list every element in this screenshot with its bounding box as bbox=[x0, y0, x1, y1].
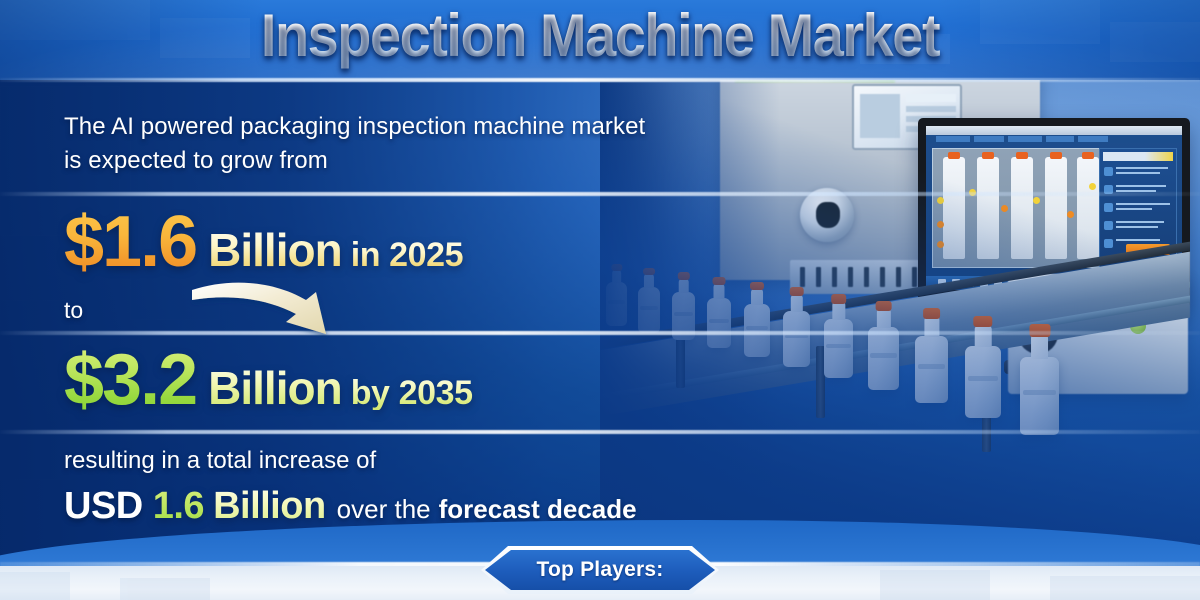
machine-rotary-dial bbox=[800, 188, 854, 242]
stat-to-amount: $3.2 bbox=[64, 344, 196, 416]
bottle bbox=[965, 346, 1001, 418]
monitor-app-titlebar bbox=[926, 126, 1182, 135]
stat-from-year: in 2025 bbox=[351, 238, 464, 272]
top-players-label: Top Players: bbox=[537, 558, 664, 582]
to-label: to bbox=[64, 296, 83, 324]
content-column: The AI powered packaging inspection mach… bbox=[0, 0, 760, 600]
top-players-banner[interactable]: Top Players: bbox=[485, 550, 715, 590]
bottle bbox=[1020, 357, 1059, 435]
stat-from-amount: $1.6 bbox=[64, 206, 196, 278]
intro-paragraph: The AI powered packaging inspection mach… bbox=[64, 110, 724, 178]
curved-arrow-icon bbox=[190, 276, 370, 346]
bottle bbox=[783, 311, 810, 367]
summary-value: 1.6 bbox=[153, 486, 204, 526]
bottle bbox=[868, 327, 899, 390]
stat-from-unit: Billion bbox=[208, 227, 342, 273]
monitor-bottle-inspection-view bbox=[932, 148, 1102, 268]
infographic-root: Inspection Machine Market The AI powered… bbox=[0, 0, 1200, 600]
summary-line: USD1.6Billionover theforecast decade bbox=[64, 486, 637, 526]
monitor-app-tabbar bbox=[926, 135, 1182, 143]
summary-lead-text: resulting in a total increase of bbox=[64, 446, 376, 476]
intro-line-2: is expected to grow from bbox=[64, 144, 724, 178]
bottle bbox=[915, 336, 948, 403]
summary-unit: Billion bbox=[213, 486, 326, 526]
stat-to-unit: Billion bbox=[208, 365, 342, 411]
summary-currency: USD bbox=[64, 486, 143, 526]
stat-to-year: by 2035 bbox=[351, 376, 473, 410]
summary-middle-text: over the bbox=[337, 494, 431, 524]
stat-row-to: $3.2Billionby 2035 bbox=[64, 344, 473, 416]
bottle bbox=[824, 319, 853, 378]
stat-row-from: $1.6Billionin 2025 bbox=[64, 206, 463, 278]
intro-line-1: The AI powered packaging inspection mach… bbox=[64, 110, 724, 144]
